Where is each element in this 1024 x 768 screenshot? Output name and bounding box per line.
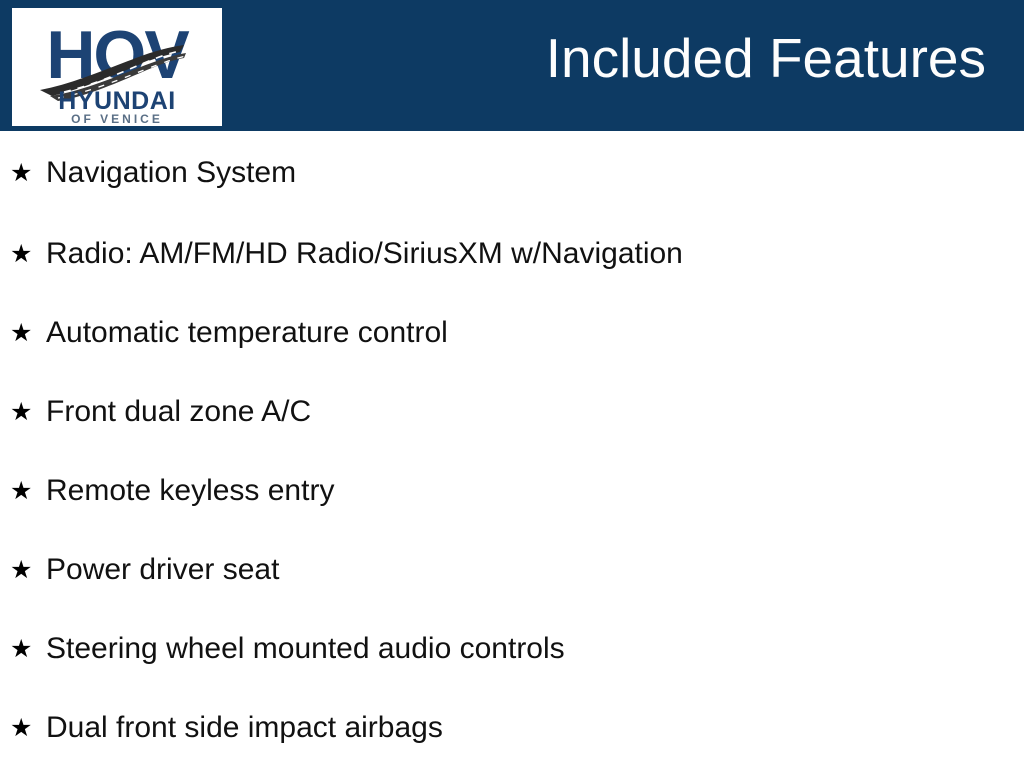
star-bullet-icon: ★ — [10, 478, 46, 503]
svg-text:HYUNDAI: HYUNDAI — [58, 87, 175, 115]
list-item: ★ Automatic temperature control — [0, 293, 1024, 372]
star-bullet-icon: ★ — [10, 636, 46, 661]
list-item: ★ Navigation System — [0, 131, 1024, 214]
list-item: ★ Radio: AM/FM/HD Radio/SiriusXM w/Navig… — [0, 214, 1024, 293]
feature-label: Radio: AM/FM/HD Radio/SiriusXM w/Navigat… — [46, 236, 1024, 272]
list-item: ★ Dual front side impact airbags — [0, 688, 1024, 767]
list-item: ★ Front dual zone A/C — [0, 372, 1024, 451]
list-item: ★ Power driver seat — [0, 530, 1024, 609]
star-bullet-icon: ★ — [10, 320, 46, 345]
page-title: Included Features — [546, 25, 986, 91]
svg-text:OF VENICE: OF VENICE — [71, 112, 163, 126]
star-bullet-icon: ★ — [10, 241, 46, 266]
feature-label: Front dual zone A/C — [46, 394, 1024, 430]
star-bullet-icon: ★ — [10, 557, 46, 582]
list-item: ★ Steering wheel mounted audio controls — [0, 609, 1024, 688]
included-features-list: ★ Navigation System ★ Radio: AM/FM/HD Ra… — [0, 131, 1024, 767]
dealer-logo: HOV HYUNDAI OF VENICE — [12, 8, 222, 126]
feature-label: Steering wheel mounted audio controls — [46, 631, 1024, 667]
list-item: ★ Remote keyless entry — [0, 451, 1024, 530]
feature-label: Power driver seat — [46, 552, 1024, 588]
feature-label: Navigation System — [46, 155, 1024, 191]
feature-label: Remote keyless entry — [46, 473, 1024, 509]
star-bullet-icon: ★ — [10, 715, 46, 740]
star-bullet-icon: ★ — [10, 399, 46, 424]
feature-label: Dual front side impact airbags — [46, 710, 1024, 746]
feature-label: Automatic temperature control — [46, 315, 1024, 351]
feature-slide: HOV HYUNDAI OF VENICE Included Features … — [0, 0, 1024, 768]
star-bullet-icon: ★ — [10, 160, 46, 185]
hov-hyundai-of-venice-logo-icon: HOV HYUNDAI OF VENICE — [12, 8, 222, 126]
